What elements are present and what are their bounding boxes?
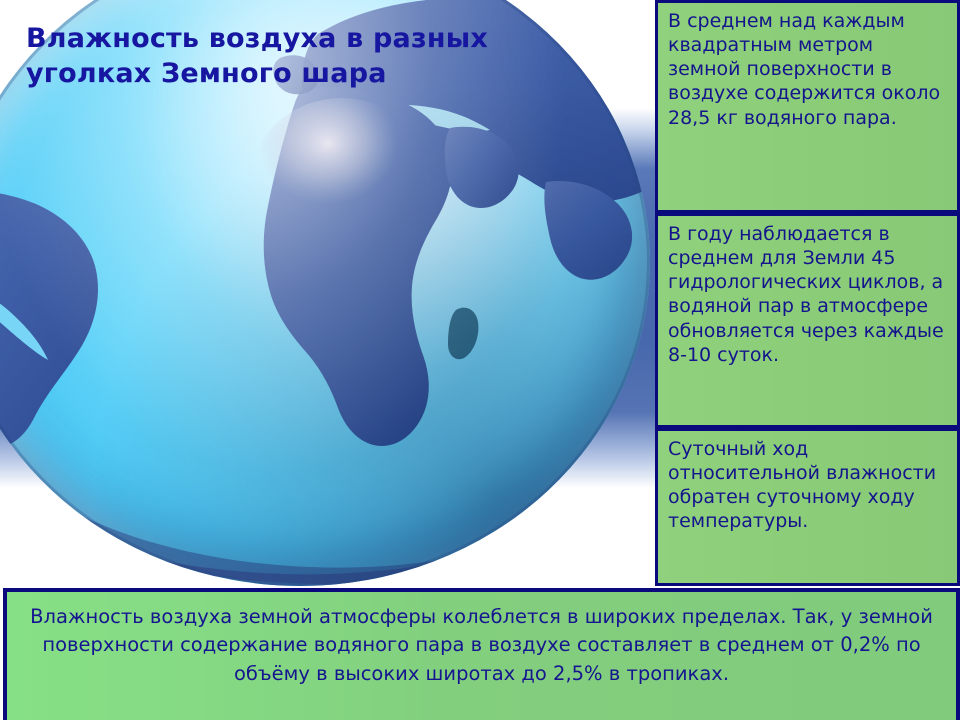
fact-box-hydrological-cycles: В году наблюдается в среднем для Земли 4… <box>655 213 960 428</box>
page-title: Влажность воздуха в разных уголках Земно… <box>26 22 626 91</box>
landmass-madagascar <box>448 308 478 360</box>
sahara-highlight <box>254 98 430 250</box>
fact-box-water-vapor-mass: В среднем над каждым квадратным метром з… <box>655 0 960 213</box>
slide-canvas: Влажность воздуха в разных уголках Земно… <box>0 0 960 720</box>
fact-box-daily-humidity: Суточный ход относительной влажности обр… <box>655 428 960 586</box>
landmass-antarctica-shade <box>70 510 596 586</box>
bottom-summary-banner: Влажность воздуха земной атмосферы колеб… <box>3 588 960 720</box>
